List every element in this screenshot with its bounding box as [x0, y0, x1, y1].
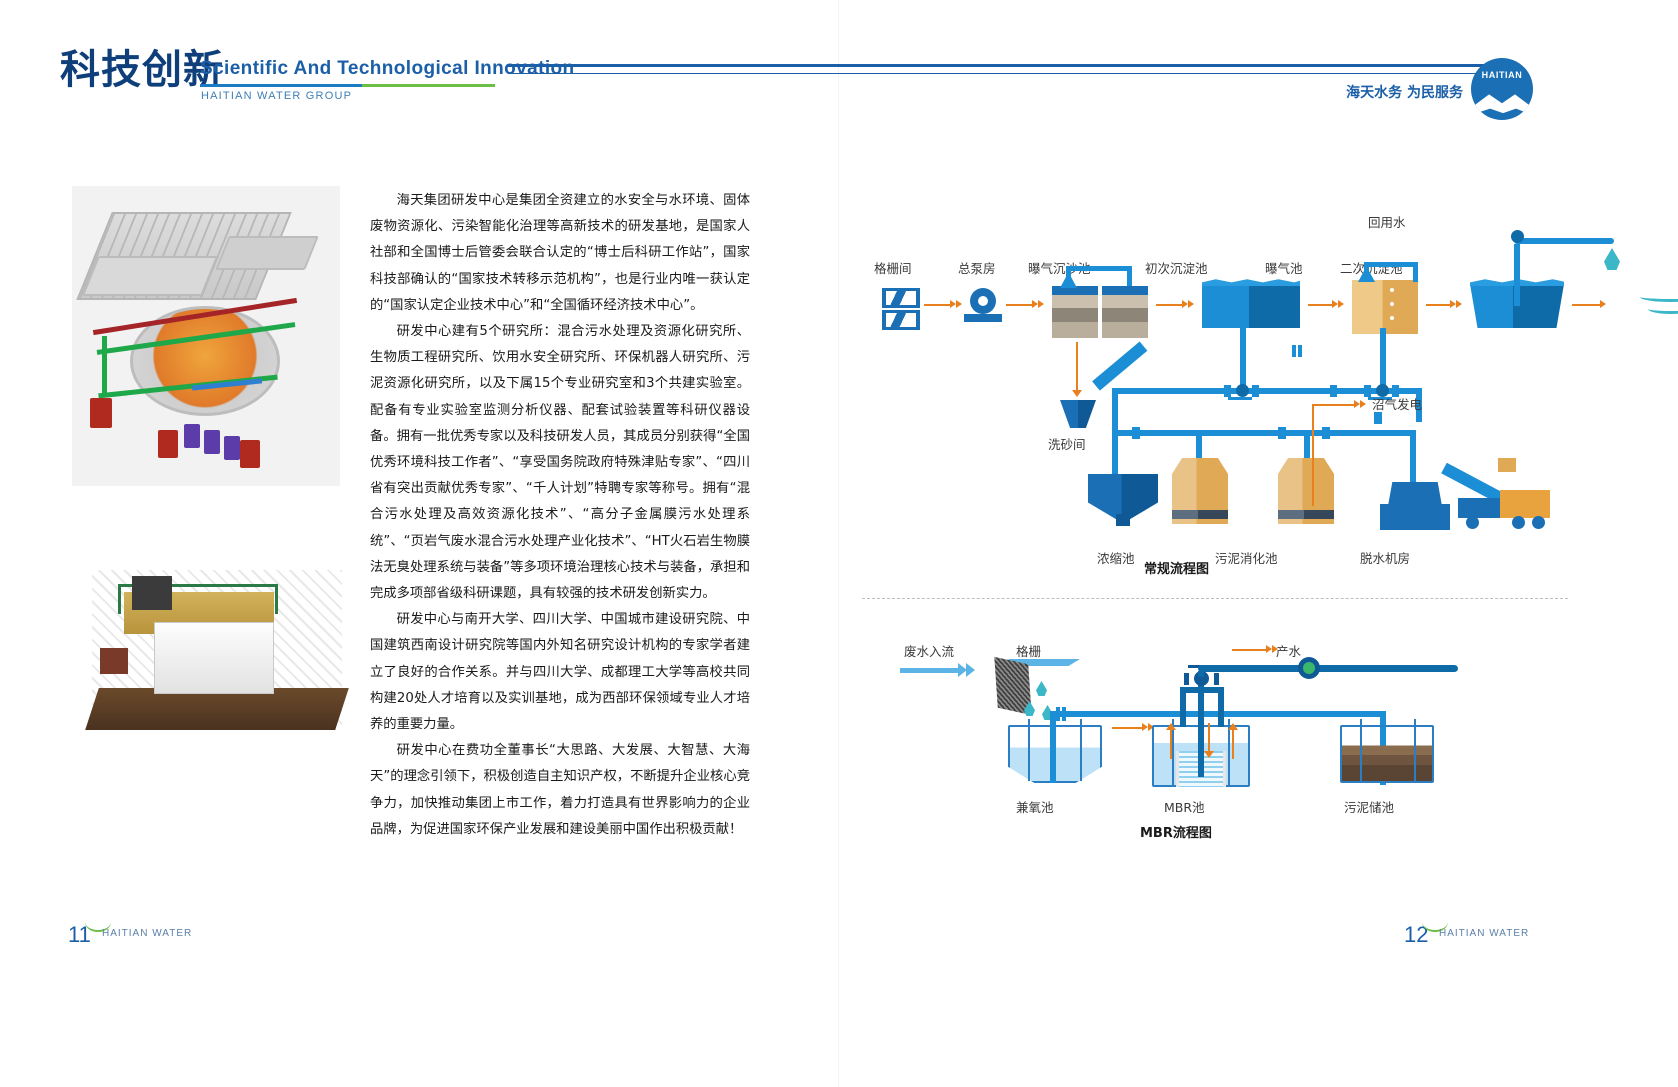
- anoxic-tank-edge-left: [1028, 719, 1030, 781]
- header-rule: [200, 84, 495, 87]
- footer-left-brand: HAITIAN WATER: [102, 928, 192, 939]
- pipe-joint-6: [1132, 427, 1140, 439]
- header-divider-top: [508, 64, 1500, 67]
- article-paragraph-4: 研发中心在费功全董事长“大思路、大发展、大智慧、大海天”的理念引领下，积极创造自…: [370, 738, 750, 843]
- sludge-valve-1-icon: [1236, 384, 1249, 397]
- droplet-icon-1: [1036, 681, 1047, 696]
- label-facultative-tank: 兼氧池: [1016, 797, 1054, 816]
- label-dewatering-room: 脱水机房: [1360, 548, 1410, 567]
- mbr-right-riser: [1218, 687, 1224, 727]
- sludge-cake-pile: [1498, 458, 1516, 472]
- photo1-motor-1: [184, 424, 200, 448]
- pipe-joint-2: [1252, 385, 1259, 397]
- biogas-riser-upper: [1312, 404, 1314, 460]
- header-title-en: Scientific And Technological Innovation: [200, 58, 575, 80]
- aerated-grit-chamber-icon-right: [1102, 286, 1148, 338]
- header-divider-bottom: [508, 73, 1500, 74]
- product-flow-arrow-line: [1232, 649, 1266, 651]
- flow-arrow-1-line: [924, 304, 950, 306]
- sludge-tank-edge-left: [1360, 719, 1362, 783]
- grit-blower-pipe-top: [1066, 266, 1132, 271]
- anoxic-inlet-pipe: [1050, 711, 1056, 783]
- mbr-flow-arrow-line: [1112, 727, 1142, 729]
- pipe-joint-5: [1330, 385, 1337, 397]
- photo-treatment-plant-render: [72, 186, 340, 486]
- flow-arrow-2-line: [1006, 304, 1032, 306]
- brochure-page: 科技创新 Scientific And Technological Innova…: [0, 0, 1678, 1087]
- mbr-flow-caption: MBR流程图: [1140, 822, 1212, 841]
- river-icon: [1640, 292, 1678, 320]
- page-spine: [838, 0, 839, 1087]
- product-flow-arrow-head-b: [1272, 645, 1278, 653]
- label-reuse-water: 回用水: [1368, 212, 1406, 231]
- aeration-blower-pipe-top: [1364, 262, 1418, 267]
- photo1-basin-a: [82, 256, 218, 296]
- photo1-basin-b: [215, 236, 319, 270]
- footer-right-brand: HAITIAN WATER: [1439, 928, 1529, 939]
- label-thickening-tank: 浓缩池: [1097, 548, 1135, 567]
- label-screen: 格栅: [1016, 641, 1041, 660]
- truck-wheel-3: [1532, 516, 1545, 529]
- truck-cab: [1458, 498, 1502, 518]
- label-main-pump-house: 总泵房: [958, 258, 996, 277]
- photo2-soil-base: [85, 688, 349, 730]
- photo1-motor-3: [224, 436, 240, 460]
- conventional-flow-caption: 常规流程图: [1144, 558, 1209, 577]
- page-header: 科技创新 Scientific And Technological Innova…: [0, 0, 1678, 135]
- photo2-machine: [132, 576, 172, 610]
- flow-arrow-1-head-b: [956, 300, 962, 308]
- conventional-flow-diagram: 格栅间 总泵房 曝气沉沙池 初次沉淀池 曝气池 二次沉淀池 回用水 河: [860, 200, 1560, 580]
- reuse-water-header: [1514, 238, 1614, 244]
- sand-washer-icon: [1060, 400, 1096, 428]
- label-primary-sedimentation-tank: 初次沉淀池: [1145, 258, 1208, 277]
- pipe-joint-7: [1278, 427, 1286, 439]
- label-aeration-tank: 曝气池: [1265, 258, 1303, 277]
- label-product-water: 产水: [1276, 641, 1301, 660]
- grit-blower-icon: [1060, 276, 1077, 288]
- label-mbr-tank: MBR池: [1164, 797, 1205, 816]
- digester-1-band: [1172, 510, 1228, 519]
- biogas-header: [1312, 404, 1354, 406]
- photo2-building: [154, 622, 274, 694]
- river-arrow-head: [1600, 300, 1606, 308]
- logo-wave-white: [1475, 90, 1529, 114]
- dewatering-house-body: [1380, 504, 1450, 530]
- reuse-water-valve-icon: [1511, 230, 1524, 243]
- haitian-logo-icon: HAITIAN: [1471, 58, 1533, 120]
- article-paragraph-3: 研发中心与南开大学、四川大学、中国城市建设研究院、中国建筑西南设计研究院等国内外…: [370, 607, 750, 738]
- product-water-line-right: [1312, 665, 1458, 672]
- sludge-transfer-pipe: [1276, 711, 1386, 717]
- mbr-valve-joint-l: [1184, 673, 1189, 685]
- sludge-tank-edge-right: [1414, 719, 1416, 783]
- mbr-manifold: [1180, 687, 1224, 693]
- label-wastewater-inflow: 废水入流: [904, 641, 954, 660]
- label-sludge-storage-tank: 污泥储池: [1344, 797, 1394, 816]
- pipe-joint-8: [1322, 427, 1330, 439]
- grating-icon-2: [882, 310, 920, 330]
- biogas-riser: [1312, 458, 1314, 506]
- grit-blower-pipe-right: [1127, 266, 1132, 286]
- photo2-rail-left: [118, 584, 121, 614]
- mbr-down-line: [1208, 723, 1210, 751]
- pipe-joint-3: [1364, 385, 1371, 397]
- mbr-down-arrow: [1204, 751, 1214, 758]
- photo-mbr-equipment-render: [92, 570, 342, 730]
- photo1-drum-3: [240, 440, 260, 468]
- header-slogan: 海天水务 为民服务: [1346, 82, 1463, 102]
- flow-arrow-5-head-b: [1456, 300, 1462, 308]
- photo1-motor-2: [204, 430, 220, 454]
- pipe-joint-9: [1374, 412, 1382, 424]
- product-water-meter-icon: [1298, 657, 1320, 679]
- diagram-divider: [862, 598, 1568, 599]
- photo2-rail-right: [275, 584, 278, 614]
- truck-trailer: [1500, 490, 1550, 518]
- sludge-header-lower: [1112, 430, 1416, 436]
- label-sludge-digester: 污泥消化池: [1215, 548, 1278, 567]
- aeration-tank-icon: [1352, 280, 1418, 334]
- grating-icon: [882, 288, 920, 308]
- mbr-air-line-right: [1232, 729, 1234, 759]
- pipe-joint-10: [1292, 345, 1296, 357]
- header-subtitle-en: HAITIAN WATER GROUP: [201, 90, 352, 102]
- article-paragraph-2: 研发中心建有5个研究所：混合污水处理及资源化研究所、生物质工程研究所、饮用水安全…: [370, 319, 750, 607]
- truck-wheel-1: [1466, 516, 1479, 529]
- flow-arrow-3-line: [1156, 304, 1182, 306]
- flow-arrow-3-head-b: [1188, 300, 1194, 308]
- label-biogas-power-generation: 沼气发电: [1372, 394, 1422, 413]
- flow-arrow-4-head-b: [1338, 300, 1344, 308]
- digester-2-band: [1278, 510, 1334, 519]
- pipe-joint-11: [1298, 345, 1302, 357]
- primary-sedimentation-tank-icon: [1202, 284, 1300, 328]
- grit-sludge-line: [1076, 342, 1078, 390]
- truck-wheel-2: [1512, 516, 1525, 529]
- mbr-valve-joint-r: [1214, 673, 1219, 685]
- primary-tank-water-surface: [1202, 278, 1300, 286]
- mbr-pipe-joint-2: [1062, 707, 1066, 721]
- mbr-air-line-left: [1170, 729, 1172, 759]
- pump-icon: [970, 288, 996, 314]
- anoxic-to-mbr-pipe: [1050, 711, 1280, 717]
- flow-arrow-5-line: [1426, 304, 1450, 306]
- label-grating-room: 格栅间: [874, 258, 912, 277]
- primary-sludge-drop: [1240, 328, 1246, 390]
- inflow-arrow-line: [900, 668, 958, 673]
- photo1-drum-2: [158, 430, 178, 458]
- logo-text: HAITIAN: [1471, 70, 1533, 80]
- aerated-grit-chamber-icon-left: [1052, 286, 1098, 338]
- pump-base: [964, 314, 1002, 322]
- label-secondary-sedimentation-tank: 二次沉淀池: [1340, 258, 1403, 277]
- mbr-left-riser: [1180, 687, 1186, 727]
- article-paragraph-1: 海天集团研发中心是集团全资建立的水安全与水环境、固体废物资源化、污染智能化治理等…: [370, 188, 750, 319]
- pipe-joint-1: [1224, 385, 1231, 397]
- mbr-pipe-joint-1: [1056, 707, 1060, 721]
- sludge-valve-1-flange: [1228, 397, 1252, 400]
- inflow-arrow-head-b: [966, 663, 975, 677]
- article-body: 海天集团研发中心是集团全资建立的水安全与水环境、固体废物资源化、污染智能化治理等…: [370, 188, 750, 843]
- mbr-flow-diagram: 废水入流 格栅 产水: [880, 615, 1540, 815]
- flow-arrow-2-head-b: [1038, 300, 1044, 308]
- aeration-sludge-drop: [1380, 328, 1386, 390]
- water-droplet-icon: [1604, 248, 1620, 270]
- label-sand-washing-room: 洗砂间: [1048, 434, 1086, 453]
- reuse-water-riser: [1514, 244, 1520, 306]
- river-arrow-line: [1572, 304, 1600, 306]
- mbr-air-arrow-right: [1228, 723, 1238, 730]
- flow-arrow-4-line: [1308, 304, 1332, 306]
- aeration-blower-pipe-right: [1413, 262, 1418, 282]
- thickening-tank-outlet: [1116, 514, 1130, 526]
- sludge-storage-tank-icon: [1340, 725, 1434, 783]
- photo1-drum-1: [90, 398, 112, 428]
- sand-conveyor-icon: [1092, 342, 1147, 391]
- mbr-air-arrow-left: [1166, 723, 1176, 730]
- screen-mesh-icon: [994, 657, 1031, 715]
- grit-sludge-arrow: [1072, 390, 1082, 397]
- biogas-arrow-head-b: [1360, 400, 1366, 408]
- dewatering-house-roof: [1388, 482, 1442, 506]
- anoxic-tank-edge-right: [1080, 719, 1082, 781]
- photo1-pipe-green-riser: [102, 336, 107, 396]
- photo2-pump: [100, 648, 128, 674]
